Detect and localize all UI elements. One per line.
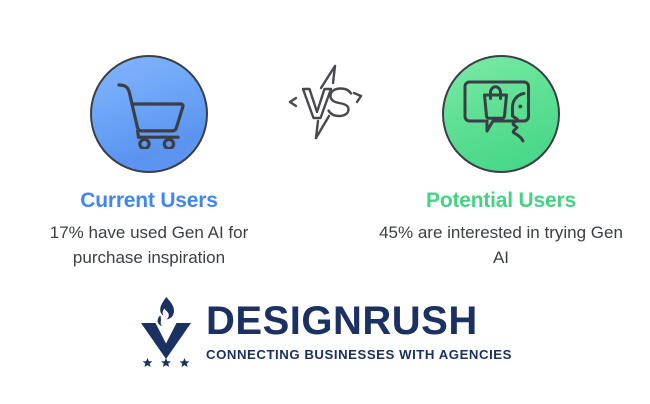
infographic-canvas: Current Users 17% have used Gen AI for p… [0,0,650,404]
comparison-row: Current Users 17% have used Gen AI for p… [0,0,650,280]
comparison-side-current-users: Current Users 17% have used Gen AI for p… [4,0,294,270]
comparison-side-potential-users: Potential Users 45% are interested in tr… [356,0,646,270]
current-users-icon-badge [90,55,208,173]
shopping-cart-icon [111,79,187,149]
potential-users-description: 45% are interested in trying Gen AI [376,221,626,270]
vs-separator [283,60,367,144]
designrush-torch-emblem-icon [138,295,194,367]
vs-spark-icon [283,60,367,144]
potential-users-title: Potential Users [356,189,646,213]
logo-wordmark: DESIGNRUSH [206,301,512,341]
potential-users-icon-badge [442,55,560,173]
designrush-logo: DESIGNRUSH CONNECTING BUSINESSES WITH AG… [0,291,650,371]
current-users-description: 17% have used Gen AI for purchase inspir… [24,221,274,270]
current-users-title: Current Users [4,189,294,213]
logo-tagline: CONNECTING BUSINESSES WITH AGENCIES [206,348,512,361]
speech-bubble-shopping-bag-face-icon [461,78,541,150]
